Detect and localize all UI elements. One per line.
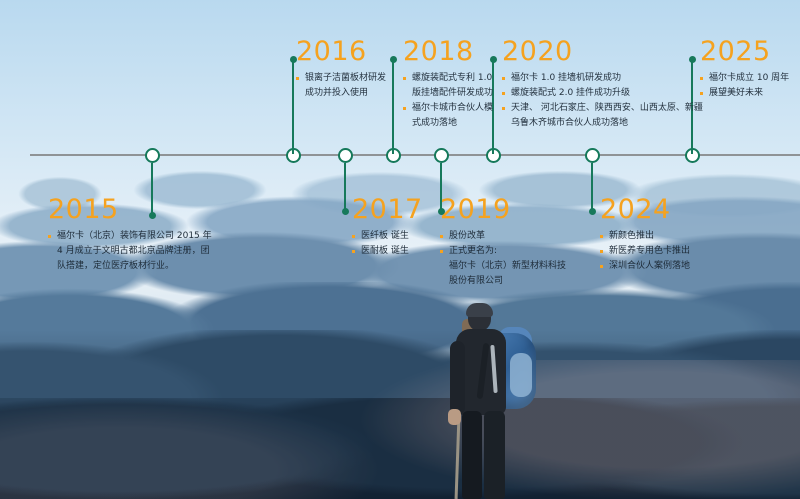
timeline-bullet-list-2024: 新颜色推出新医养专用色卡推出深圳合伙人案例落地 (600, 229, 690, 274)
trekking-pole (455, 417, 461, 499)
hand (448, 409, 461, 425)
backpack-panel (510, 353, 532, 397)
timeline-year-label-2017: 2017 (352, 196, 423, 223)
timeline-bullet-list-2016: 银离子洁菌板材研发 成功并投入使用 (296, 71, 386, 101)
timeline-bullet: 螺旋装配式 2.0 挂件成功升级 (502, 86, 703, 101)
timeline-stem-2017 (344, 163, 346, 211)
leg-left (462, 411, 482, 499)
timeline-bullet-list-2019: 股份改革正式更名为: 福尔卡（北京）新型材料科技 股份有限公司 (440, 229, 566, 289)
timeline-entry-2025[interactable]: 2025福尔卡成立 10 周年展望美好未来 (700, 38, 789, 101)
timeline-node-2015[interactable] (145, 148, 160, 163)
timeline-year-label-2025: 2025 (700, 38, 789, 65)
timeline-bullet: 新颜色推出 (600, 229, 690, 244)
timeline-bullet-list-2015: 福尔卡（北京）装饰有限公司 2015 年 4 月成立于文明古都北京品牌注册，团 … (48, 229, 212, 274)
timeline-infographic: 2015福尔卡（北京）装饰有限公司 2015 年 4 月成立于文明古都北京品牌注… (0, 0, 800, 499)
timeline-bullet-list-2018: 螺旋装配式专利 1.0 版挂墙配件研发成功福尔卡城市合伙人模 式成功落地 (403, 71, 493, 131)
timeline-stem-2024 (591, 163, 593, 211)
timeline-year-label-2015: 2015 (48, 196, 212, 223)
timeline-bullet: 天津、 河北石家庄、陕西西安、山西太原、新疆 乌鲁木齐城市合伙人成功落地 (502, 101, 703, 131)
timeline-entry-2024[interactable]: 2024新颜色推出新医养专用色卡推出深圳合伙人案例落地 (600, 196, 690, 274)
leg-right (484, 411, 505, 499)
timeline-bullet: 新医养专用色卡推出 (600, 244, 690, 259)
timeline-bullet: 银离子洁菌板材研发 成功并投入使用 (296, 71, 386, 101)
timeline-stem-dot-2018 (390, 56, 397, 63)
timeline-entry-2016[interactable]: 2016银离子洁菌板材研发 成功并投入使用 (296, 38, 386, 101)
timeline-entry-2015[interactable]: 2015福尔卡（北京）装饰有限公司 2015 年 4 月成立于文明古都北京品牌注… (48, 196, 212, 274)
timeline-year-label-2016: 2016 (296, 38, 386, 65)
timeline-bullet: 深圳合伙人案例落地 (600, 259, 690, 274)
timeline-bullet: 福尔卡成立 10 周年 (700, 71, 789, 86)
timeline-stem-2016 (292, 60, 294, 154)
timeline-entry-2020[interactable]: 2020福尔卡 1.0 挂墙机研发成功螺旋装配式 2.0 挂件成功升级天津、 河… (502, 38, 703, 131)
arm (450, 341, 465, 415)
timeline-bullet: 正式更名为: 福尔卡（北京）新型材料科技 股份有限公司 (440, 244, 566, 289)
timeline-stem-2018 (392, 60, 394, 154)
timeline-stem-dot-2024 (589, 208, 596, 215)
sunlight-glow (0, 360, 800, 499)
timeline-bullet-list-2020: 福尔卡 1.0 挂墙机研发成功螺旋装配式 2.0 挂件成功升级天津、 河北石家庄… (502, 71, 703, 131)
timeline-entry-2019[interactable]: 2019股份改革正式更名为: 福尔卡（北京）新型材料科技 股份有限公司 (440, 196, 566, 289)
timeline-bullet: 医纤板 诞生 (352, 229, 423, 244)
timeline-bullet: 展望美好未来 (700, 86, 789, 101)
timeline-bullet: 福尔卡城市合伙人模 式成功落地 (403, 101, 493, 131)
cap (466, 303, 493, 317)
timeline-bullet-list-2017: 医纤板 诞生医耐板 诞生 (352, 229, 423, 259)
timeline-bullet: 医耐板 诞生 (352, 244, 423, 259)
timeline-bullet: 股份改革 (440, 229, 566, 244)
timeline-year-label-2019: 2019 (440, 196, 566, 223)
timeline-entry-2017[interactable]: 2017医纤板 诞生医耐板 诞生 (352, 196, 423, 259)
timeline-stem-dot-2017 (342, 208, 349, 215)
timeline-node-2017[interactable] (338, 148, 353, 163)
timeline-node-2019[interactable] (434, 148, 449, 163)
timeline-bullet: 福尔卡（北京）装饰有限公司 2015 年 4 月成立于文明古都北京品牌注册，团 … (48, 229, 212, 274)
timeline-bullet: 螺旋装配式专利 1.0 版挂墙配件研发成功 (403, 71, 493, 101)
timeline-node-2024[interactable] (585, 148, 600, 163)
hiker-figure (436, 305, 556, 499)
timeline-year-label-2024: 2024 (600, 196, 690, 223)
timeline-year-label-2018: 2018 (403, 38, 493, 65)
timeline-bullet: 福尔卡 1.0 挂墙机研发成功 (502, 71, 703, 86)
timeline-year-label-2020: 2020 (502, 38, 703, 65)
timeline-entry-2018[interactable]: 2018螺旋装配式专利 1.0 版挂墙配件研发成功福尔卡城市合伙人模 式成功落地 (403, 38, 493, 131)
timeline-bullet-list-2025: 福尔卡成立 10 周年展望美好未来 (700, 71, 789, 101)
